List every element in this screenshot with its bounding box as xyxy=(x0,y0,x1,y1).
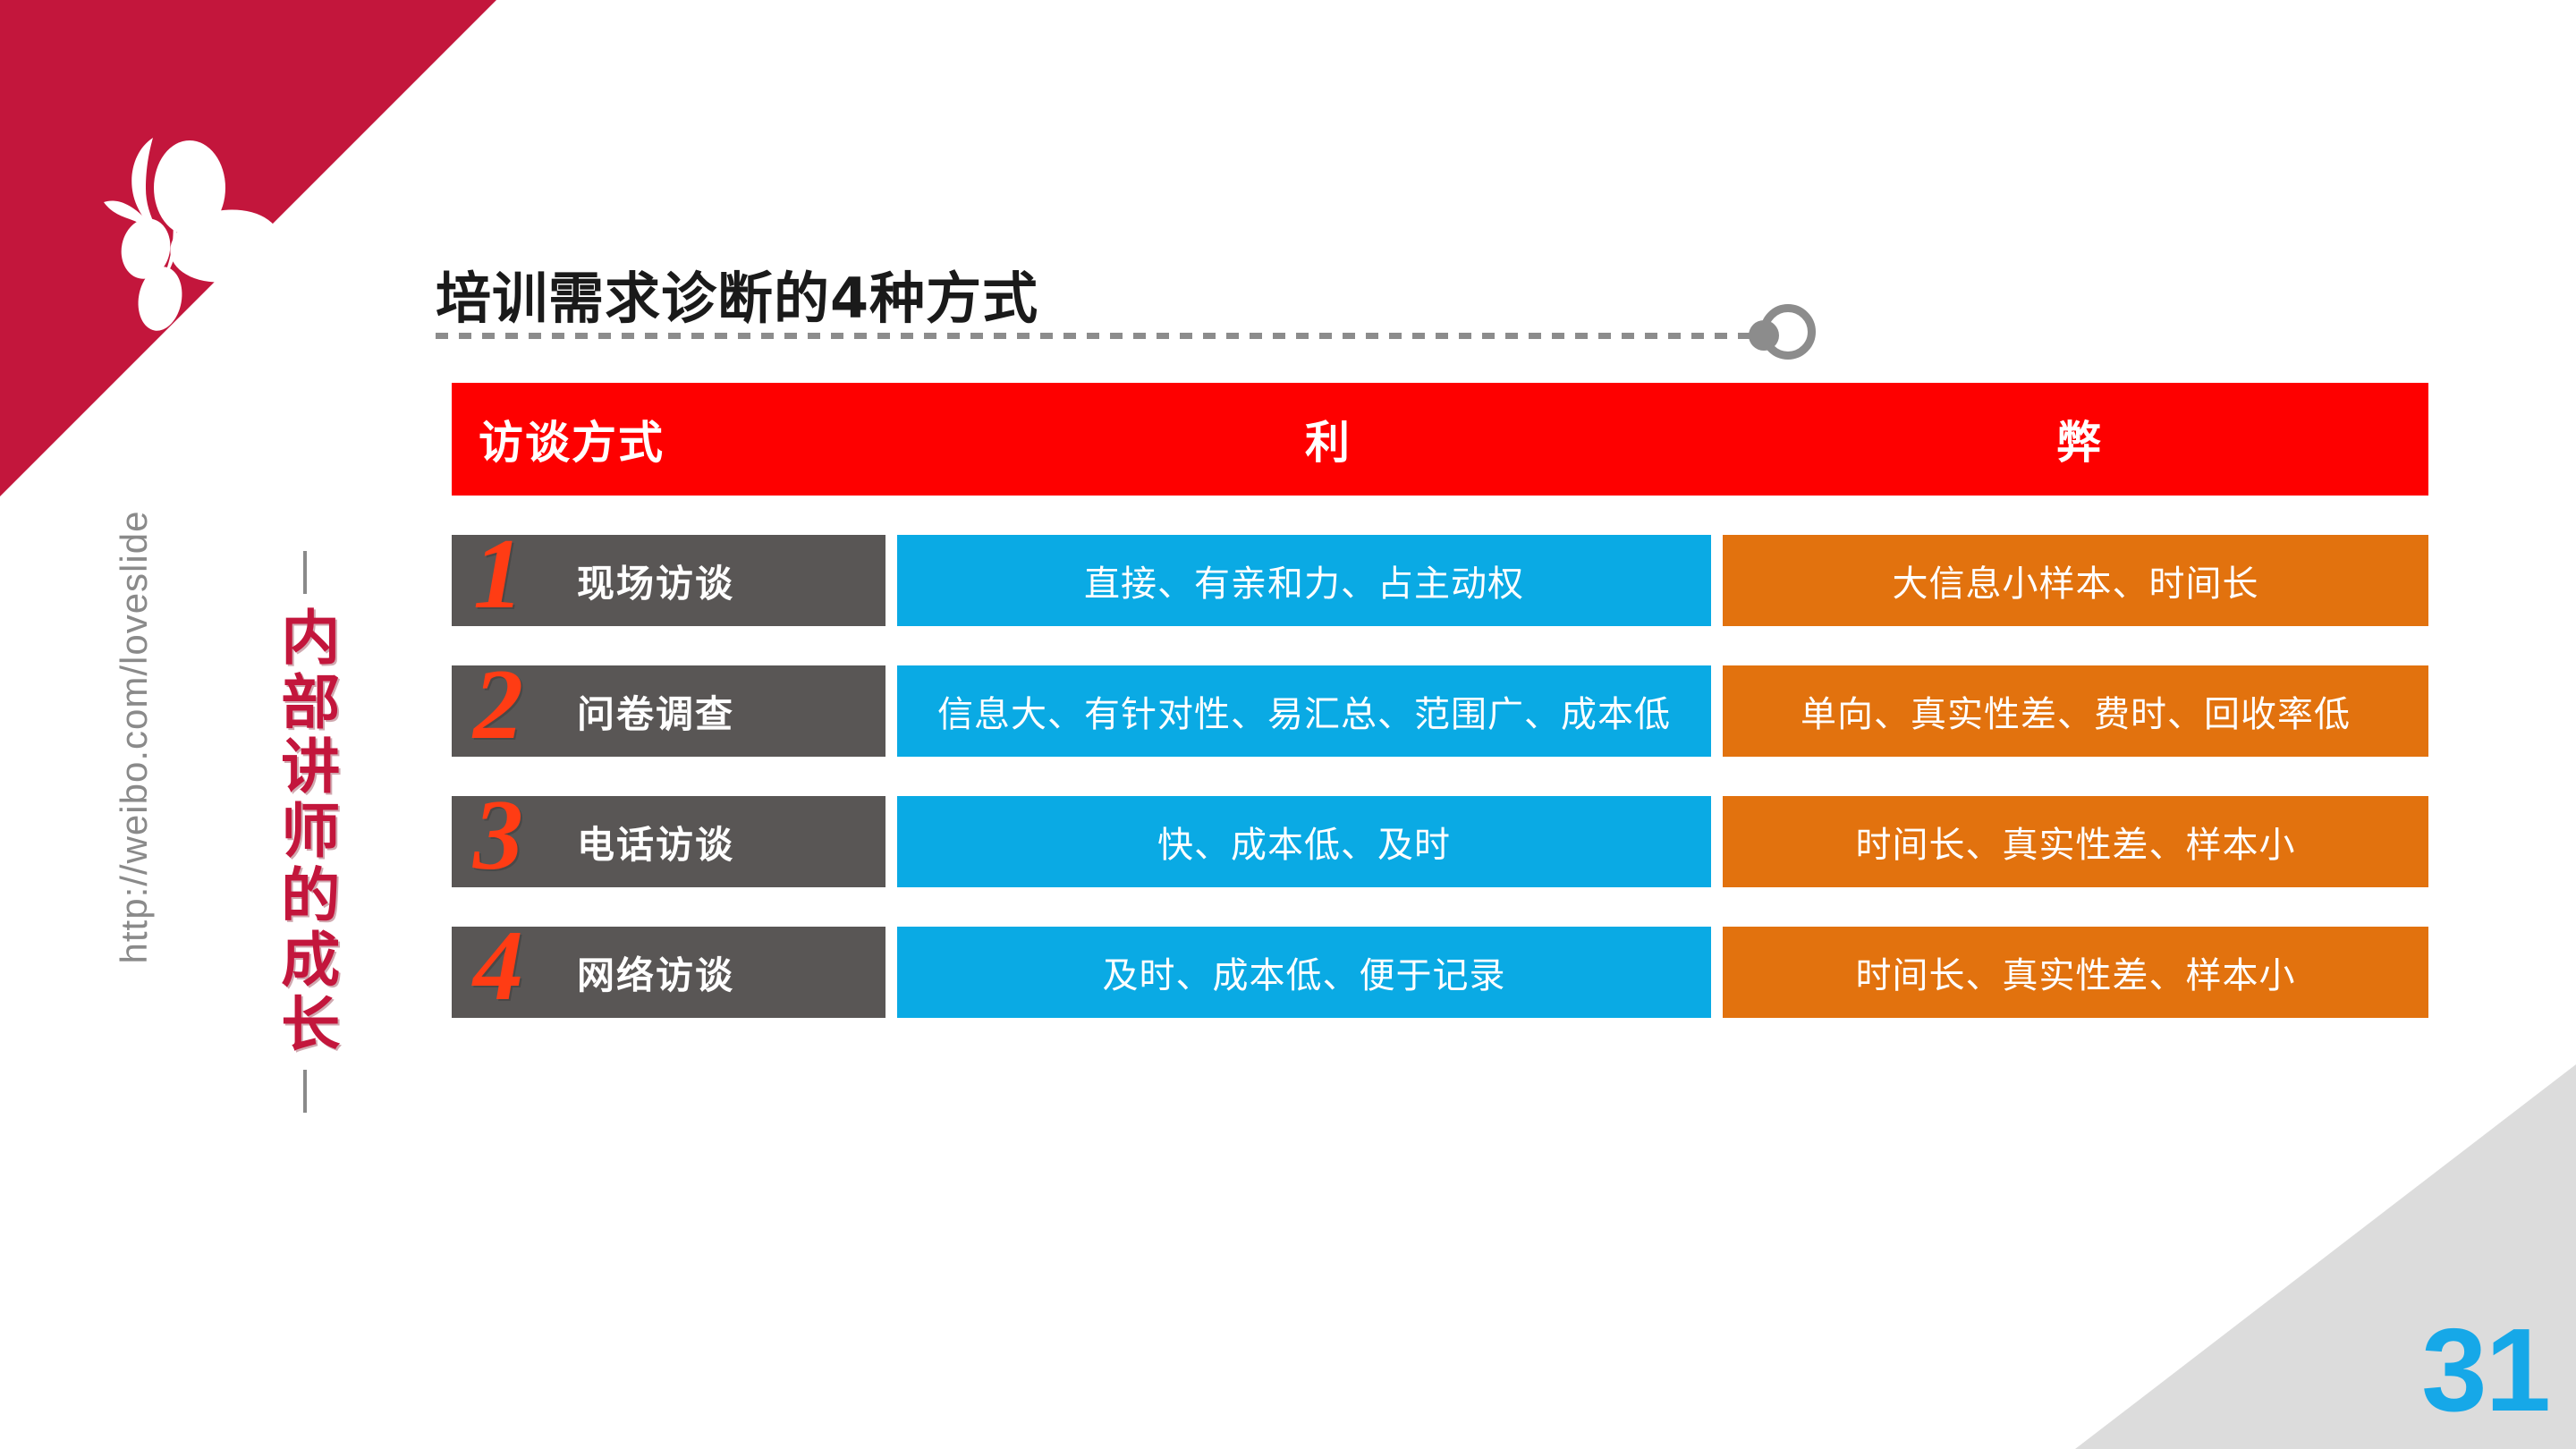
pro-label: 直接、有亲和力、占主动权 xyxy=(1084,555,1524,606)
pro-label: 快、成本低、及时 xyxy=(1157,816,1451,868)
header-method: 访谈方式 xyxy=(452,407,926,471)
page-number: 31 xyxy=(2421,1311,2549,1429)
method-cell: 1 现场访谈 xyxy=(452,535,885,626)
pro-label: 信息大、有针对性、易汇总、范围广、成本低 xyxy=(937,685,1671,737)
con-label: 时间长、真实性差、样本小 xyxy=(1856,946,2296,998)
row-number: 3 xyxy=(473,785,523,885)
con-cell: 单向、真实性差、费时、回收率低 xyxy=(1723,665,2428,757)
table-row: 2 问卷调查 信息大、有针对性、易汇总、范围广、成本低 单向、真实性差、费时、回… xyxy=(452,665,2428,757)
vertical-title-text: 内部讲师的成长 xyxy=(269,606,342,1057)
con-cell: 大信息小样本、时间长 xyxy=(1723,535,2428,626)
header-pro: 利 xyxy=(926,407,1731,471)
dash-bottom xyxy=(303,1070,307,1113)
method-label: 网络访谈 xyxy=(577,945,734,1000)
row-number: 4 xyxy=(473,916,523,1016)
pro-cell: 直接、有亲和力、占主动权 xyxy=(897,535,1711,626)
row-number: 1 xyxy=(473,524,523,624)
pro-cell: 信息大、有针对性、易汇总、范围广、成本低 xyxy=(897,665,1711,757)
row-number: 2 xyxy=(473,655,523,755)
con-label: 时间长、真实性差、样本小 xyxy=(1856,816,2296,868)
title-dotted-rule xyxy=(436,333,1755,339)
butterfly-logo-icon xyxy=(67,121,309,344)
method-cell: 4 网络访谈 xyxy=(452,927,885,1018)
header-con: 弊 xyxy=(1731,407,2428,471)
method-cell: 2 问卷调查 xyxy=(452,665,885,757)
slide-canvas: http://weibo.com/loveslide 内部讲师的成长 培训需求诊… xyxy=(0,0,2576,1449)
vertical-section-title: 内部讲师的成长 xyxy=(265,551,345,1113)
method-label: 现场访谈 xyxy=(577,554,734,608)
method-label: 电话访谈 xyxy=(577,815,734,869)
method-label: 问卷调查 xyxy=(577,684,734,739)
con-label: 单向、真实性差、费时、回收率低 xyxy=(1801,685,2351,737)
method-cell: 3 电话访谈 xyxy=(452,796,885,887)
table-header-row: 访谈方式 利 弊 xyxy=(452,383,2428,496)
table-row: 3 电话访谈 快、成本低、及时 时间长、真实性差、样本小 xyxy=(452,796,2428,887)
table-row: 1 现场访谈 直接、有亲和力、占主动权 大信息小样本、时间长 xyxy=(452,535,2428,626)
page-title: 培训需求诊断的4种方式 xyxy=(436,253,1038,334)
con-cell: 时间长、真实性差、样本小 xyxy=(1723,927,2428,1018)
pro-cell: 及时、成本低、便于记录 xyxy=(897,927,1711,1018)
pro-label: 及时、成本低、便于记录 xyxy=(1103,946,1506,998)
pro-cell: 快、成本低、及时 xyxy=(897,796,1711,887)
table-row: 4 网络访谈 及时、成本低、便于记录 时间长、真实性差、样本小 xyxy=(452,927,2428,1018)
con-cell: 时间长、真实性差、样本小 xyxy=(1723,796,2428,887)
dotted-rule-ring-icon xyxy=(1760,304,1816,360)
con-label: 大信息小样本、时间长 xyxy=(1893,555,2259,606)
comparison-table: 访谈方式 利 弊 1 现场访谈 直接、有亲和力、占主动权 大信息小样本、时间长 … xyxy=(452,383,2428,1018)
dash-top xyxy=(303,551,307,594)
weibo-url-label[interactable]: http://weibo.com/loveslide xyxy=(113,469,156,1005)
